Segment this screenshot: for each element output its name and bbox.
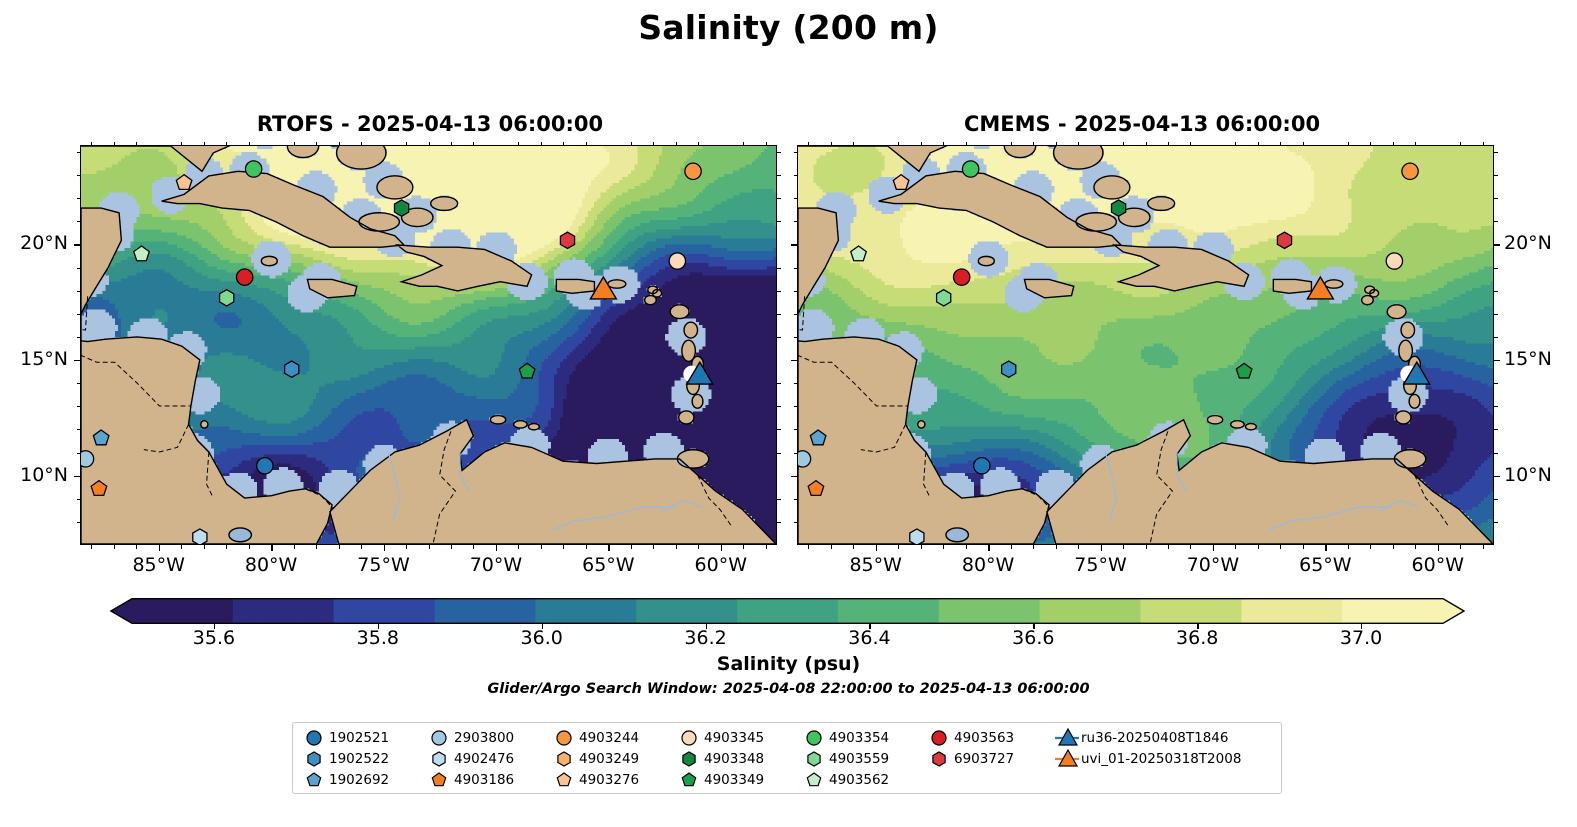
x-tick-label: 60°W xyxy=(1393,554,1483,576)
x-minor-tick xyxy=(1393,142,1394,146)
legend-item[interactable]: 1902692 xyxy=(301,769,389,790)
y-minor-tick xyxy=(77,268,81,269)
legend-item[interactable]: 2903800 xyxy=(426,727,514,748)
y-minor-tick xyxy=(77,221,81,222)
x-minor-tick xyxy=(676,142,677,146)
argo-float-marker[interactable] xyxy=(1002,361,1016,377)
x-minor-tick xyxy=(831,545,832,549)
legend-label: 2903800 xyxy=(452,730,514,746)
legend-item[interactable]: 4903559 xyxy=(801,748,889,769)
colorbar-tick-label: 35.6 xyxy=(169,627,259,649)
y-minor-tick xyxy=(794,337,798,338)
argo-float-marker[interactable] xyxy=(394,200,408,216)
x-minor-tick xyxy=(406,545,407,549)
salinity-field xyxy=(798,146,1493,544)
x-minor-tick xyxy=(1056,142,1057,146)
x-minor-tick xyxy=(1033,545,1034,549)
y-minor-tick xyxy=(77,291,81,292)
legend-label: 4903186 xyxy=(452,772,514,788)
legend-column: 490334549033484903349 xyxy=(676,727,764,790)
legend-label: 4903562 xyxy=(827,772,889,788)
x-minor-tick xyxy=(541,545,542,549)
x-minor-tick xyxy=(1348,545,1349,549)
legend-marker-icon xyxy=(926,748,952,769)
panel-title-cmems: CMEMS - 2025-04-13 06:00:00 xyxy=(797,112,1487,136)
y-minor-tick xyxy=(777,522,781,523)
colorbar-tick-label: 36.6 xyxy=(988,627,1078,649)
legend-marker-icon xyxy=(551,769,577,790)
legend-item[interactable]: 4903244 xyxy=(551,727,639,748)
x-minor-tick xyxy=(631,545,632,549)
x-minor-tick xyxy=(1033,142,1034,146)
x-minor-tick xyxy=(1056,545,1057,549)
y-tick-label: 20°N xyxy=(1504,232,1577,254)
legend-marker-icon xyxy=(301,727,327,748)
y-minor-tick xyxy=(77,175,81,176)
y-minor-tick xyxy=(1494,337,1498,338)
x-minor-tick xyxy=(518,545,519,549)
x-minor-tick xyxy=(473,545,474,549)
x-minor-tick xyxy=(1235,545,1236,549)
x-tick-label: 70°W xyxy=(1168,554,1258,576)
y-minor-tick xyxy=(1494,499,1498,500)
y-minor-tick xyxy=(1494,221,1498,222)
legend-label: 4903249 xyxy=(577,751,639,767)
argo-float-marker[interactable] xyxy=(1277,232,1291,248)
argo-float-marker[interactable] xyxy=(560,232,574,248)
y-minor-tick xyxy=(77,453,81,454)
x-minor-tick xyxy=(1258,545,1259,549)
argo-float-marker[interactable] xyxy=(1111,200,1125,216)
y-tick-label: 20°N xyxy=(0,232,68,254)
legend-label: 4903563 xyxy=(952,730,1014,746)
colorbar-label: Salinity (psu) xyxy=(0,653,1577,675)
x-tick-label: 80°W xyxy=(943,554,1033,576)
legend-marker-icon xyxy=(301,769,327,790)
y-minor-tick xyxy=(794,291,798,292)
y-minor-tick xyxy=(777,175,781,176)
y-minor-tick xyxy=(1494,522,1498,523)
legend-marker-icon xyxy=(426,748,452,769)
x-minor-tick xyxy=(1078,142,1079,146)
x-minor-tick xyxy=(808,545,809,549)
legend-item[interactable]: 1902521 xyxy=(301,727,389,748)
x-minor-tick xyxy=(1460,545,1461,549)
y-minor-tick xyxy=(777,291,781,292)
legend-marker-icon xyxy=(301,748,327,769)
x-minor-tick xyxy=(898,545,899,549)
y-minor-tick xyxy=(777,453,781,454)
x-minor-tick xyxy=(676,545,677,549)
x-minor-tick xyxy=(1011,142,1012,146)
x-minor-tick xyxy=(743,545,744,549)
x-minor-tick xyxy=(136,545,137,549)
y-minor-tick xyxy=(794,314,798,315)
x-minor-tick xyxy=(473,142,474,146)
x-tick-label: 65°W xyxy=(1280,554,1370,576)
y-minor-tick xyxy=(794,268,798,269)
y-minor-tick xyxy=(1494,406,1498,407)
y-minor-tick xyxy=(777,406,781,407)
x-minor-tick xyxy=(249,545,250,549)
y-minor-tick xyxy=(77,383,81,384)
x-minor-tick xyxy=(181,545,182,549)
legend-item[interactable]: 4903348 xyxy=(676,748,764,769)
y-minor-tick xyxy=(1494,268,1498,269)
y-minor-tick xyxy=(794,406,798,407)
x-minor-tick xyxy=(361,545,362,549)
x-minor-tick xyxy=(226,545,227,549)
y-minor-tick xyxy=(1494,152,1498,153)
x-minor-tick xyxy=(1303,142,1304,146)
x-minor-tick xyxy=(406,142,407,146)
x-minor-tick xyxy=(831,142,832,146)
x-minor-tick xyxy=(451,142,452,146)
legend-label: 4903348 xyxy=(702,751,764,767)
x-minor-tick xyxy=(339,142,340,146)
x-minor-tick xyxy=(631,142,632,146)
argo-float-marker[interactable] xyxy=(257,458,273,474)
x-minor-tick xyxy=(698,142,699,146)
x-tick-label: 85°W xyxy=(114,554,204,576)
argo-float-marker[interactable] xyxy=(937,290,951,306)
x-minor-tick xyxy=(294,142,295,146)
y-minor-tick xyxy=(794,152,798,153)
y-minor-tick xyxy=(794,383,798,384)
x-tick xyxy=(271,545,272,551)
y-minor-tick xyxy=(777,221,781,222)
y-minor-tick xyxy=(1494,383,1498,384)
y-minor-tick xyxy=(77,406,81,407)
y-minor-tick xyxy=(77,429,81,430)
x-tick-label: 85°W xyxy=(831,554,921,576)
legend-label: 4903244 xyxy=(577,730,639,746)
legend-column: 490324449032494903276 xyxy=(551,727,639,790)
x-tick xyxy=(721,545,722,551)
x-minor-tick xyxy=(1393,545,1394,549)
y-minor-tick xyxy=(794,522,798,523)
x-minor-tick xyxy=(1168,545,1169,549)
legend-marker-icon xyxy=(1053,727,1079,748)
y-minor-tick xyxy=(1494,291,1498,292)
x-minor-tick xyxy=(1415,545,1416,549)
y-minor-tick xyxy=(777,383,781,384)
legend-marker-icon xyxy=(801,769,827,790)
search-window-note: Glider/Argo Search Window: 2025-04-08 22… xyxy=(0,681,1577,697)
x-minor-tick xyxy=(808,142,809,146)
x-minor-tick xyxy=(518,142,519,146)
y-minor-tick xyxy=(77,337,81,338)
argo-float-marker[interactable] xyxy=(193,529,207,544)
legend-item[interactable]: 4902476 xyxy=(426,748,514,769)
y-minor-tick xyxy=(777,429,781,430)
x-tick xyxy=(1101,545,1102,551)
x-minor-tick xyxy=(766,545,767,549)
y-minor-tick xyxy=(77,499,81,500)
y-minor-tick xyxy=(794,221,798,222)
y-tick-label: 15°N xyxy=(0,348,68,370)
y-minor-tick xyxy=(777,268,781,269)
y-tick-label: 10°N xyxy=(1504,464,1577,486)
y-minor-tick xyxy=(777,314,781,315)
x-minor-tick xyxy=(1011,545,1012,549)
legend-label: 4903559 xyxy=(827,751,889,767)
colorbar-tick-label: 36.2 xyxy=(661,627,751,649)
x-minor-tick xyxy=(1280,142,1281,146)
y-minor-tick xyxy=(777,337,781,338)
x-minor-tick xyxy=(1258,142,1259,146)
y-tick xyxy=(74,476,80,477)
x-minor-tick xyxy=(1348,142,1349,146)
legend-marker-icon xyxy=(676,748,702,769)
legend-marker-icon xyxy=(801,727,827,748)
y-minor-tick xyxy=(777,152,781,153)
legend-marker-icon xyxy=(676,727,702,748)
x-minor-tick xyxy=(204,142,205,146)
y-minor-tick xyxy=(794,198,798,199)
x-minor-tick xyxy=(653,545,654,549)
x-minor-tick xyxy=(1146,142,1147,146)
x-minor-tick xyxy=(316,142,317,146)
argo-float-marker[interactable] xyxy=(685,163,701,179)
x-minor-tick xyxy=(1280,545,1281,549)
x-minor-tick xyxy=(1483,545,1484,549)
x-minor-tick xyxy=(766,142,767,146)
legend-marker-icon xyxy=(426,727,452,748)
x-minor-tick xyxy=(316,545,317,549)
y-minor-tick xyxy=(794,453,798,454)
x-minor-tick xyxy=(1370,142,1371,146)
y-minor-tick xyxy=(777,499,781,500)
argo-float-marker[interactable] xyxy=(220,290,234,306)
x-minor-tick xyxy=(898,142,899,146)
argo-float-marker[interactable] xyxy=(1386,253,1402,269)
argo-float-marker[interactable] xyxy=(245,161,261,177)
x-minor-tick xyxy=(853,545,854,549)
x-minor-tick xyxy=(249,142,250,146)
legend-label: 1902521 xyxy=(327,730,389,746)
argo-float-marker[interactable] xyxy=(953,269,969,285)
legend-item[interactable]: 4903249 xyxy=(551,748,639,769)
x-minor-tick xyxy=(451,545,452,549)
legend-label: 4903276 xyxy=(577,772,639,788)
x-minor-tick xyxy=(91,545,92,549)
x-minor-tick xyxy=(1303,545,1304,549)
x-tick xyxy=(1438,545,1439,551)
x-minor-tick xyxy=(294,545,295,549)
x-tick-label: 60°W xyxy=(676,554,766,576)
x-tick xyxy=(159,545,160,551)
x-minor-tick xyxy=(1078,545,1079,549)
map-panel-cmems[interactable] xyxy=(797,145,1494,545)
legend-column: 190252119025221902692 xyxy=(301,727,389,790)
panel-title-rtofs: RTOFS - 2025-04-13 06:00:00 xyxy=(80,112,780,136)
legend-item[interactable]: 4903563 xyxy=(926,727,1014,748)
argo-float-marker[interactable] xyxy=(798,451,811,467)
argo-float-marker[interactable] xyxy=(974,458,990,474)
legend-column: 49035636903727 xyxy=(926,727,1014,769)
colorbar-tick-label: 37.0 xyxy=(1316,627,1406,649)
x-minor-tick xyxy=(114,142,115,146)
x-tick-label: 70°W xyxy=(451,554,541,576)
x-minor-tick xyxy=(586,545,587,549)
x-minor-tick xyxy=(429,142,430,146)
legend-column: 490335449035594903562 xyxy=(801,727,889,790)
x-minor-tick xyxy=(743,142,744,146)
legend-label: 1902692 xyxy=(327,772,389,788)
y-tick xyxy=(74,360,80,361)
argo-float-marker[interactable] xyxy=(285,361,299,377)
argo-float-marker[interactable] xyxy=(1402,163,1418,179)
legend-marker-icon xyxy=(551,727,577,748)
x-tick xyxy=(384,545,385,551)
y-tick xyxy=(791,244,797,245)
page-title: Salinity (200 m) xyxy=(0,8,1577,47)
x-minor-tick xyxy=(1415,142,1416,146)
map-panel-rtofs[interactable] xyxy=(80,145,777,545)
x-minor-tick xyxy=(653,142,654,146)
x-tick xyxy=(876,545,877,551)
x-minor-tick xyxy=(966,545,967,549)
legend-label: 4903345 xyxy=(702,730,764,746)
x-minor-tick xyxy=(563,142,564,146)
x-tick-label: 75°W xyxy=(339,554,429,576)
legend-marker-icon xyxy=(1053,748,1079,769)
x-tick-label: 75°W xyxy=(1056,554,1146,576)
legend-item[interactable]: 4903186 xyxy=(426,769,514,790)
y-minor-tick xyxy=(777,198,781,199)
x-minor-tick xyxy=(204,545,205,549)
legend-label: 6903727 xyxy=(952,751,1014,767)
y-tick xyxy=(791,476,797,477)
x-tick-label: 80°W xyxy=(226,554,316,576)
legend-item[interactable]: 4903354 xyxy=(801,727,889,748)
y-minor-tick xyxy=(794,175,798,176)
x-minor-tick xyxy=(943,142,944,146)
legend-marker-icon xyxy=(426,769,452,790)
y-tick xyxy=(1494,360,1500,361)
x-minor-tick xyxy=(1123,142,1124,146)
x-minor-tick xyxy=(136,142,137,146)
argo-float-marker[interactable] xyxy=(669,253,685,269)
argo-float-marker[interactable] xyxy=(910,529,924,544)
y-minor-tick xyxy=(77,314,81,315)
colorbar-tick-label: 36.4 xyxy=(824,627,914,649)
legend-item[interactable]: 4903349 xyxy=(676,769,764,790)
x-minor-tick xyxy=(921,545,922,549)
y-minor-tick xyxy=(1494,198,1498,199)
x-minor-tick xyxy=(943,545,944,549)
argo-float-marker[interactable] xyxy=(236,269,252,285)
colorbar-tick-label: 35.8 xyxy=(333,627,423,649)
x-minor-tick xyxy=(1190,142,1191,146)
y-minor-tick xyxy=(1494,453,1498,454)
legend-item[interactable]: 1902522 xyxy=(301,748,389,769)
y-tick xyxy=(791,360,797,361)
x-minor-tick xyxy=(1370,545,1371,549)
legend-label: 4902476 xyxy=(452,751,514,767)
legend-marker-icon xyxy=(676,769,702,790)
y-minor-tick xyxy=(77,522,81,523)
y-tick xyxy=(1494,476,1500,477)
x-minor-tick xyxy=(91,142,92,146)
x-tick xyxy=(988,545,989,551)
legend-item[interactable]: uvi_01-20250318T2008 xyxy=(1053,748,1241,769)
legend-item[interactable]: 4903345 xyxy=(676,727,764,748)
x-minor-tick xyxy=(361,142,362,146)
argo-float-marker[interactable] xyxy=(81,451,94,467)
legend-label: uvi_01-20250318T2008 xyxy=(1079,751,1241,767)
legend-item[interactable]: 6903727 xyxy=(926,748,1014,769)
legend-column: 290380049024764903186 xyxy=(426,727,514,790)
legend-label: 4903354 xyxy=(827,730,889,746)
colorbar-tick-label: 36.0 xyxy=(497,627,587,649)
x-tick xyxy=(608,545,609,551)
argo-float-marker[interactable] xyxy=(962,161,978,177)
x-minor-tick xyxy=(853,142,854,146)
x-minor-tick xyxy=(1146,545,1147,549)
legend-column: ru36-20250408T1846uvi_01-20250318T2008 xyxy=(1053,727,1241,769)
x-tick-label: 65°W xyxy=(563,554,653,576)
marker-legend: 1902521190252219026922903800490247649031… xyxy=(292,722,1282,794)
x-minor-tick xyxy=(1460,142,1461,146)
y-minor-tick xyxy=(794,499,798,500)
y-minor-tick xyxy=(77,198,81,199)
x-minor-tick xyxy=(429,545,430,549)
x-minor-tick xyxy=(339,545,340,549)
legend-marker-icon xyxy=(801,748,827,769)
x-minor-tick xyxy=(226,142,227,146)
x-minor-tick xyxy=(1123,545,1124,549)
x-minor-tick xyxy=(114,545,115,549)
legend-item[interactable]: ru36-20250408T1846 xyxy=(1053,727,1241,748)
x-minor-tick xyxy=(1168,142,1169,146)
y-minor-tick xyxy=(1494,175,1498,176)
x-tick xyxy=(1213,545,1214,551)
y-minor-tick xyxy=(794,429,798,430)
x-tick xyxy=(1325,545,1326,551)
x-minor-tick xyxy=(181,142,182,146)
x-minor-tick xyxy=(966,142,967,146)
colorbar-tick-label: 36.8 xyxy=(1152,627,1242,649)
y-minor-tick xyxy=(77,152,81,153)
x-minor-tick xyxy=(698,545,699,549)
colorbar xyxy=(110,598,1465,624)
x-minor-tick xyxy=(563,545,564,549)
salinity-field xyxy=(81,146,776,544)
legend-item[interactable]: 4903276 xyxy=(551,769,639,790)
legend-marker-icon xyxy=(551,748,577,769)
x-minor-tick xyxy=(1483,142,1484,146)
legend-item[interactable]: 4903562 xyxy=(801,769,889,790)
x-minor-tick xyxy=(1190,545,1191,549)
x-tick xyxy=(496,545,497,551)
y-tick xyxy=(74,244,80,245)
legend-label: 1902522 xyxy=(327,751,389,767)
y-tick xyxy=(1494,244,1500,245)
legend-label: 4903349 xyxy=(702,772,764,788)
x-minor-tick xyxy=(586,142,587,146)
y-minor-tick xyxy=(1494,314,1498,315)
legend-label: ru36-20250408T1846 xyxy=(1079,730,1228,746)
y-tick-label: 10°N xyxy=(0,464,68,486)
x-minor-tick xyxy=(541,142,542,146)
x-minor-tick xyxy=(1235,142,1236,146)
legend-marker-icon xyxy=(926,727,952,748)
y-tick-label: 15°N xyxy=(1504,348,1577,370)
y-minor-tick xyxy=(1494,429,1498,430)
x-minor-tick xyxy=(921,142,922,146)
